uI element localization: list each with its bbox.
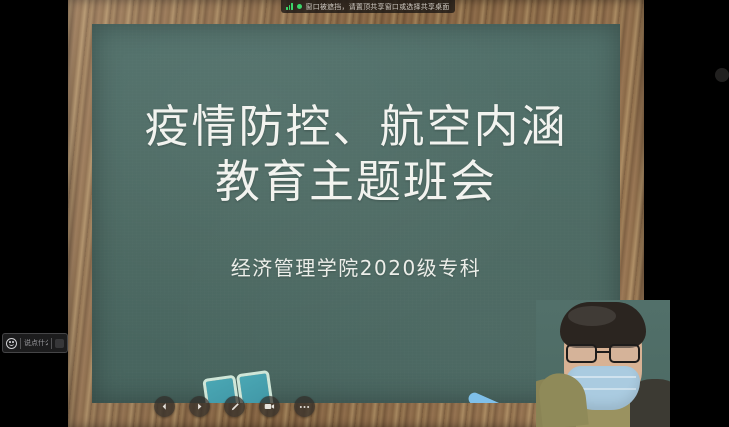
ellipsis-icon	[299, 405, 310, 409]
lens-right	[609, 344, 640, 363]
recording-dot-icon	[297, 4, 302, 9]
previous-slide-button[interactable]	[154, 396, 175, 417]
slide-title-line-1: 疫情防控、航空内涵	[92, 100, 620, 155]
chat-divider	[20, 338, 21, 349]
slide-subtitle: 经济管理学院2020级专科	[92, 252, 620, 281]
smiley-face-icon[interactable]	[6, 338, 17, 349]
share-status-strip: 窗口被遮挡，请置顶共享窗口或选择共享桌面	[281, 0, 455, 13]
presentation-tool-dock	[154, 396, 315, 417]
pen-icon	[230, 402, 240, 412]
play-triangle-icon	[195, 402, 204, 411]
more-button[interactable]	[294, 396, 315, 417]
slide-title-line-2: 教育主题班会	[92, 155, 620, 210]
lens-left	[566, 344, 597, 363]
chat-input-bar[interactable]: 说点什么...	[2, 333, 68, 353]
chevron-left-icon	[160, 402, 169, 411]
send-icon[interactable]	[55, 339, 64, 348]
edge-artifact	[715, 68, 729, 82]
slide-text-block: 疫情防控、航空内涵 教育主题班会 经济管理学院2020级专科	[92, 100, 620, 281]
signal-bars-icon	[286, 3, 293, 10]
participant-video-tile[interactable]	[536, 300, 670, 427]
chat-input-placeholder[interactable]: 说点什么...	[24, 338, 48, 348]
video-frame	[536, 300, 670, 427]
glasses-bridge	[597, 351, 609, 353]
camera-icon	[264, 402, 275, 411]
glasses-icon	[566, 344, 640, 363]
chat-divider-2	[51, 338, 52, 349]
play-button[interactable]	[189, 396, 210, 417]
share-status-message: 窗口被遮挡，请置顶共享窗口或选择共享桌面	[306, 2, 450, 12]
camera-button[interactable]	[259, 396, 280, 417]
screen-share-window: 疫情防控、航空内涵 教育主题班会 经济管理学院2020级专科	[0, 0, 729, 427]
pen-button[interactable]	[224, 396, 245, 417]
hair	[560, 302, 646, 348]
